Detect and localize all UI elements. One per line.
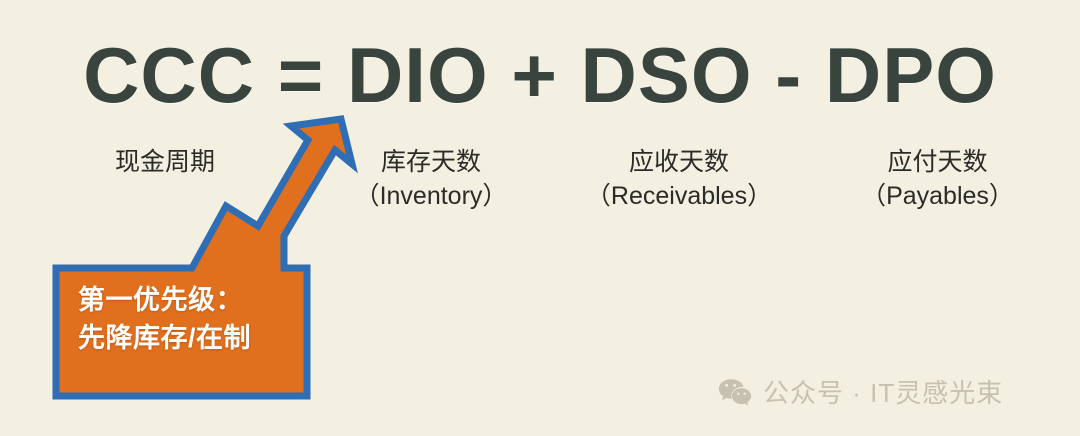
term-label-dso: 应收天数 （Receivables）	[565, 146, 793, 214]
callout-box-shape	[56, 119, 352, 396]
term-label-dso-cn: 应收天数	[565, 146, 793, 180]
formula-title: CCC = DIO + DSO - DPO	[0, 36, 1080, 114]
callout-annotation	[36, 128, 366, 428]
watermark: 公众号 · IT灵感光束	[718, 373, 1003, 410]
wechat-icon	[718, 378, 752, 406]
term-label-dpo: 应付天数 （Payables）	[830, 146, 1045, 214]
term-label-dpo-cn: 应付天数	[830, 146, 1045, 180]
infographic-canvas: CCC = DIO + DSO - DPO 现金周期 库存天数 （Invento…	[0, 0, 1080, 436]
watermark-text: 公众号 · IT灵感光束	[763, 373, 1003, 410]
term-label-dso-en: （Receivables）	[565, 180, 793, 214]
term-label-dpo-en: （Payables）	[830, 180, 1045, 214]
